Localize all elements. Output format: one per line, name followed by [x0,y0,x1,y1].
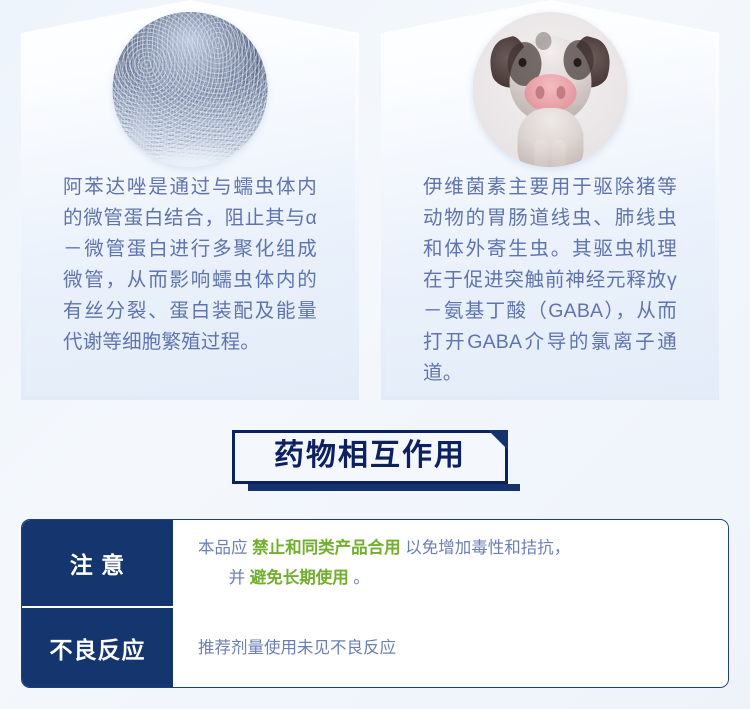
table-row: 不良反应 推荐剂量使用未见不良反应 [22,608,728,688]
feature-card-ivermectin: 伊维菌素主要用于驱除猪等动物的胃肠道线虫、肺线虫和体外寄生虫。其驱虫机理在于促进… [381,0,719,400]
banner-shadow-bar [248,484,520,491]
caution-line2-highlight: 避免长期使用 [250,569,349,587]
powder-granule-photo [113,12,268,167]
banner-box: 药物相互作用 [232,430,508,484]
caution-line1-pre: 本品应 [198,539,248,557]
pig-eye-right [574,58,582,67]
pig-body [517,108,583,167]
table-row: 注 意 本品应 禁止和同类产品合用 以免增加毒性和拮抗， 并 避免长期使用 。 [22,520,728,606]
pig-nostril-left [535,86,544,99]
pig-spot [535,32,551,50]
table-row-content-caution: 本品应 禁止和同类产品合用 以免增加毒性和拮抗， 并 避免长期使用 。 [173,520,728,606]
caution-line1-highlight: 禁止和同类产品合用 [252,539,401,557]
feature-card-albendazole: 阿苯达唑是通过与蠕虫体内的微管蛋白结合，阻止其与α－微管蛋白进行多聚化组成微管，… [21,0,359,400]
banner-title: 药物相互作用 [274,441,466,473]
pig-leg-right [553,140,566,167]
drug-interaction-table: 注 意 本品应 禁止和同类产品合用 以免增加毒性和拮抗， 并 避免长期使用 。 … [21,519,729,688]
card-text-ivermectin: 伊维菌素主要用于驱除猪等动物的胃肠道线虫、肺线虫和体外寄生虫。其驱虫机理在于促进… [381,172,719,389]
caution-line2-post: 。 [353,569,370,587]
caution-line2-pre: 并 [229,569,246,587]
adverse-reaction-text: 推荐剂量使用未见不良反应 [198,633,396,663]
pig-eye-left [519,58,527,67]
pig-nostril-right [556,86,565,99]
section-banner: 药物相互作用 [232,430,508,494]
pig-snout [524,74,576,112]
feature-cards-section: 阿苯达唑是通过与蠕虫体内的微管蛋白结合，阻止其与α－微管蛋白进行多聚化组成微管，… [0,0,750,410]
piglet-image [473,12,628,167]
table-row-label-caution: 注 意 [22,520,173,606]
caution-line1-post: 以免增加毒性和拮抗， [405,539,570,557]
table-row-label-adverse: 不良反应 [22,608,173,688]
pig-leg-left [535,140,548,167]
table-row-content-adverse: 推荐剂量使用未见不良反应 [173,608,728,688]
card-text-albendazole: 阿苯达唑是通过与蠕虫体内的微管蛋白结合，阻止其与α－微管蛋白进行多聚化组成微管，… [21,172,359,358]
piglet-photo [473,12,628,167]
powder-granule-image [113,12,268,167]
